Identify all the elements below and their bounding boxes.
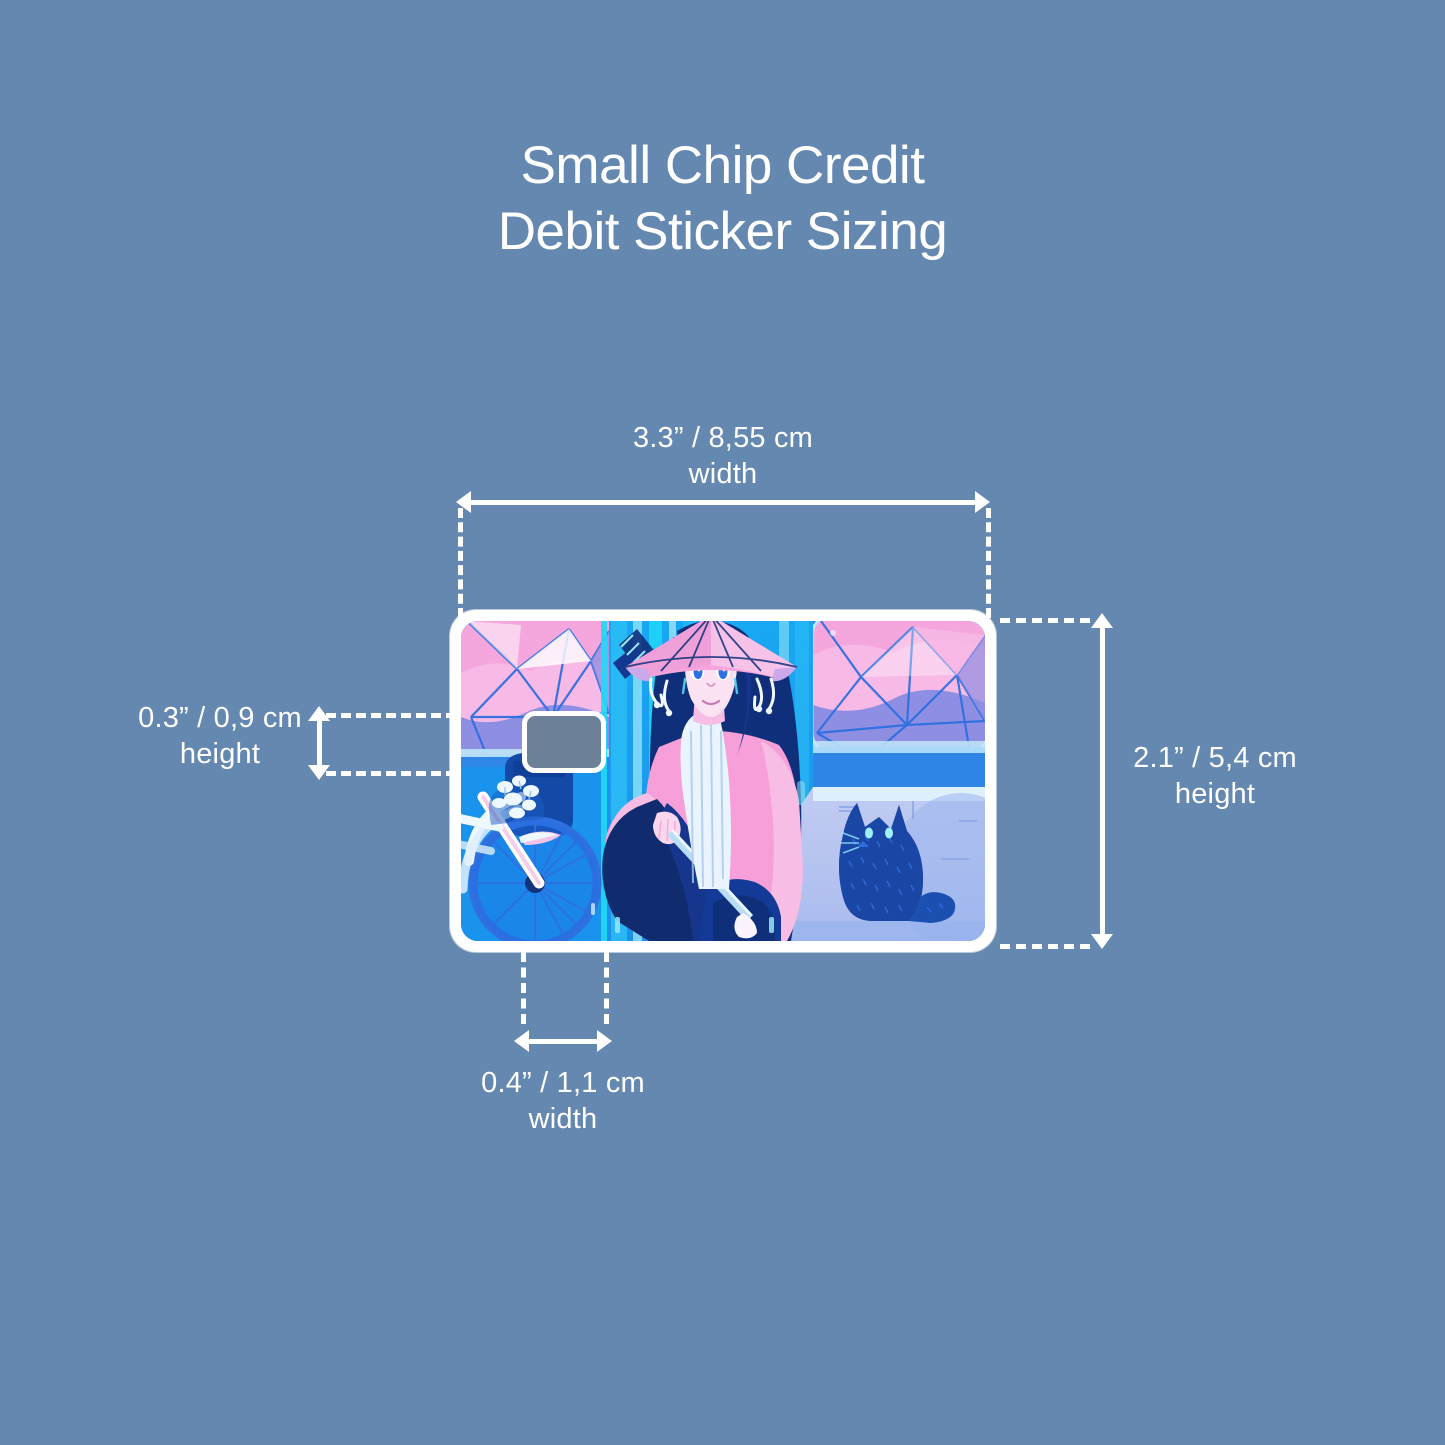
card-height-extension-bottom bbox=[1000, 944, 1090, 949]
credit-card-sticker[interactable] bbox=[450, 610, 996, 952]
page-title-line-1: Small Chip Credit bbox=[0, 133, 1445, 199]
card-width-extension-left bbox=[458, 508, 463, 618]
chip-height-measure: 0.3” / 0,9 cm bbox=[138, 702, 302, 734]
card-width-measure: 3.3” / 8,55 cm bbox=[633, 422, 813, 454]
page-title-line-2: Debit Sticker Sizing bbox=[0, 199, 1445, 265]
card-artwork bbox=[461, 621, 985, 941]
arrow-shaft bbox=[317, 715, 322, 771]
arrow-shaft bbox=[465, 500, 981, 505]
arrow-shaft bbox=[523, 1039, 603, 1044]
card-height-measure: 2.1” / 5,4 cm bbox=[1133, 742, 1297, 774]
chip-width-label: 0.4” / 1,1 cm width bbox=[398, 1065, 728, 1137]
chip-height-label: 0.3” / 0,9 cm height bbox=[60, 700, 380, 772]
chip-width-extension-left bbox=[521, 952, 526, 1024]
chip-width-axis: width bbox=[398, 1101, 728, 1137]
artwork-illustration bbox=[461, 621, 985, 941]
card-width-extension-right bbox=[986, 508, 991, 618]
chip-width-measure: 0.4” / 1,1 cm bbox=[481, 1067, 645, 1099]
right-window bbox=[809, 621, 985, 755]
page-title: Small Chip Credit Debit Sticker Sizing bbox=[0, 133, 1445, 265]
chip-width-arrow bbox=[514, 1030, 612, 1052]
arrow-head-bottom-icon bbox=[1091, 934, 1113, 949]
chip-width-extension-right bbox=[604, 952, 609, 1024]
card-width-axis: width bbox=[538, 456, 908, 492]
sizing-diagram: Small Chip Credit Debit Sticker Sizing 3… bbox=[0, 0, 1445, 1445]
card-height-extension-top bbox=[1000, 618, 1090, 623]
chip-height-axis: height bbox=[60, 736, 380, 772]
card-width-label: 3.3” / 8,55 cm width bbox=[538, 420, 908, 492]
card-width-arrow bbox=[456, 491, 990, 513]
card-height-arrow bbox=[1091, 613, 1113, 949]
arrow-head-right-icon bbox=[597, 1030, 612, 1052]
chip-cutout-placeholder[interactable] bbox=[522, 711, 606, 773]
arrow-shaft bbox=[1100, 622, 1105, 940]
